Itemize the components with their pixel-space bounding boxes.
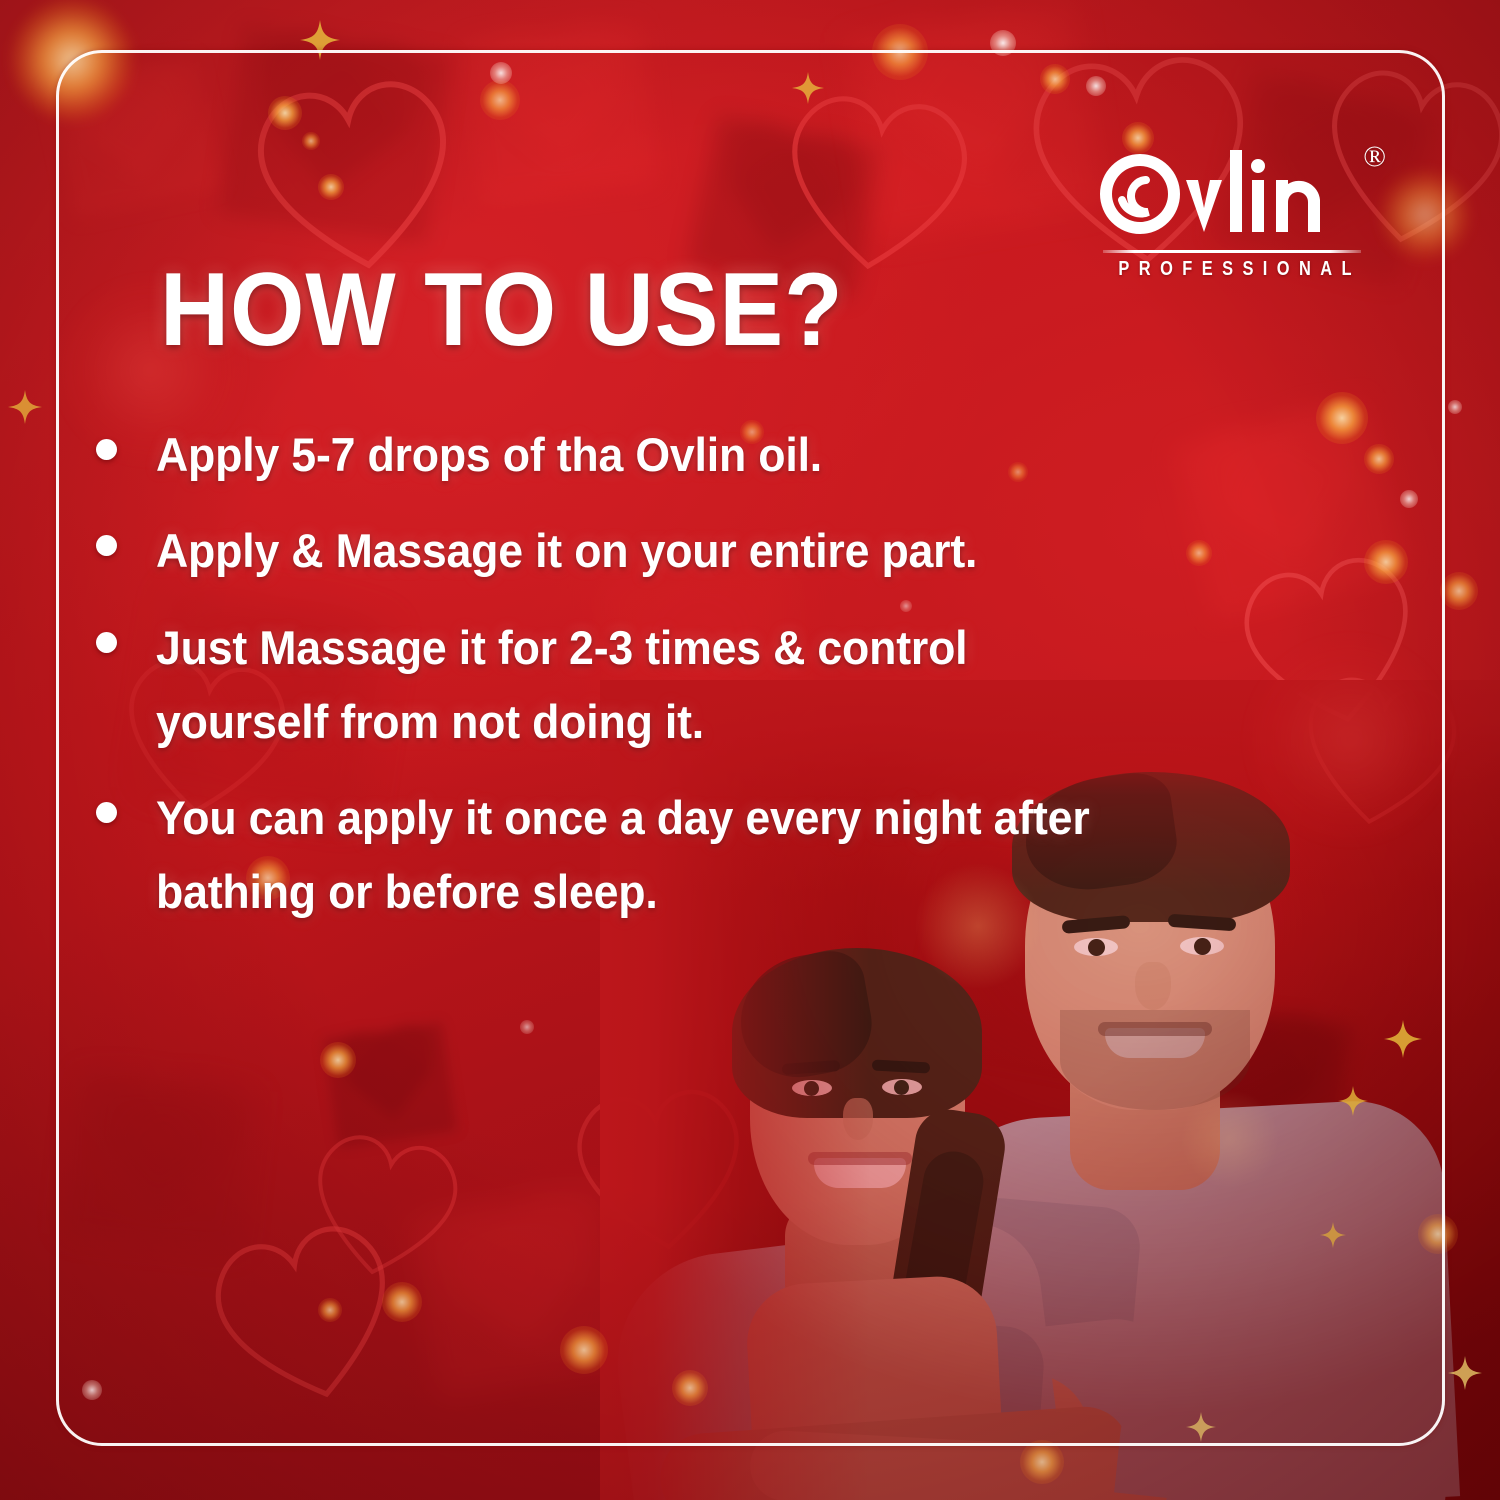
list-item: Apply & Massage it on your entire part. bbox=[96, 514, 1216, 588]
list-item-label: Apply & Massage it on your entire part. bbox=[156, 514, 977, 588]
list-item: Apply 5-7 drops of tha Ovlin oil. bbox=[96, 418, 1216, 492]
promo-poster: ® PROFESSIONAL HOW TO USE? Apply 5-7 dro… bbox=[0, 0, 1500, 1500]
list-item-label: You can apply it once a day every night … bbox=[156, 781, 1168, 930]
logo-divider bbox=[1103, 250, 1361, 253]
bullet-dot-icon bbox=[96, 439, 117, 460]
list-item: Just Massage it for 2-3 times & control … bbox=[96, 611, 1166, 760]
list-item-label: Just Massage it for 2-3 times & control … bbox=[156, 611, 1116, 760]
instruction-list: Apply 5-7 drops of tha Ovlin oil. Apply … bbox=[96, 418, 1216, 952]
bullet-dot-icon bbox=[96, 535, 117, 556]
bullet-dot-icon bbox=[96, 632, 117, 653]
bullet-dot-icon bbox=[96, 802, 117, 823]
list-item-label: Apply 5-7 drops of tha Ovlin oil. bbox=[156, 418, 822, 492]
brand-tagline: PROFESSIONAL bbox=[1109, 258, 1355, 281]
brand-logo: ® PROFESSIONAL bbox=[1082, 140, 1382, 281]
brand-wordmark: ® bbox=[1082, 140, 1382, 248]
page-title: HOW TO USE? bbox=[160, 258, 843, 362]
registered-trademark-icon: ® bbox=[1363, 142, 1386, 172]
list-item: You can apply it once a day every night … bbox=[96, 781, 1221, 930]
